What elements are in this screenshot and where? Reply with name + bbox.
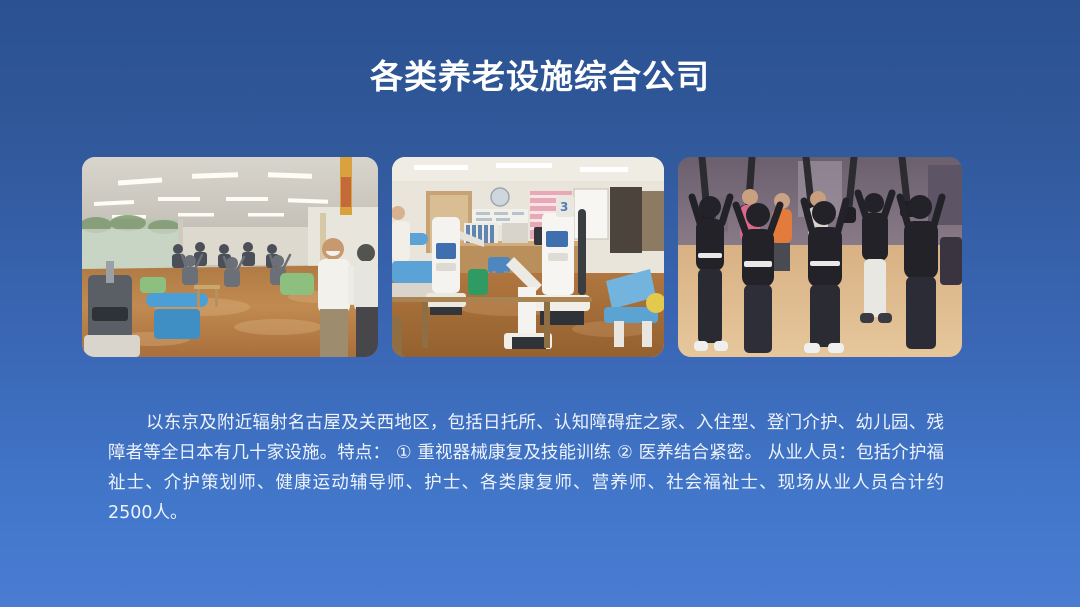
photo-strip: 3 — [82, 157, 962, 357]
facility-photo-rehab-equipment: 3 — [392, 157, 664, 357]
presentation-slide: 各类养老设施综合公司 — [0, 0, 1080, 607]
body-paragraph: 以东京及附近辐射名古屋及关西地区，包括日托所、认知障碍症之家、入住型、登门介护、… — [108, 408, 944, 528]
photo-group-fitness-graphic — [678, 157, 962, 357]
svg-text:3: 3 — [560, 200, 568, 214]
photo-daycare-hall-graphic — [82, 157, 378, 357]
photo-rehab-equipment-graphic: 3 — [392, 157, 664, 357]
page-title: 各类养老设施综合公司 — [0, 55, 1080, 99]
facility-photo-group-fitness — [678, 157, 962, 357]
facility-photo-daycare-hall — [82, 157, 378, 357]
